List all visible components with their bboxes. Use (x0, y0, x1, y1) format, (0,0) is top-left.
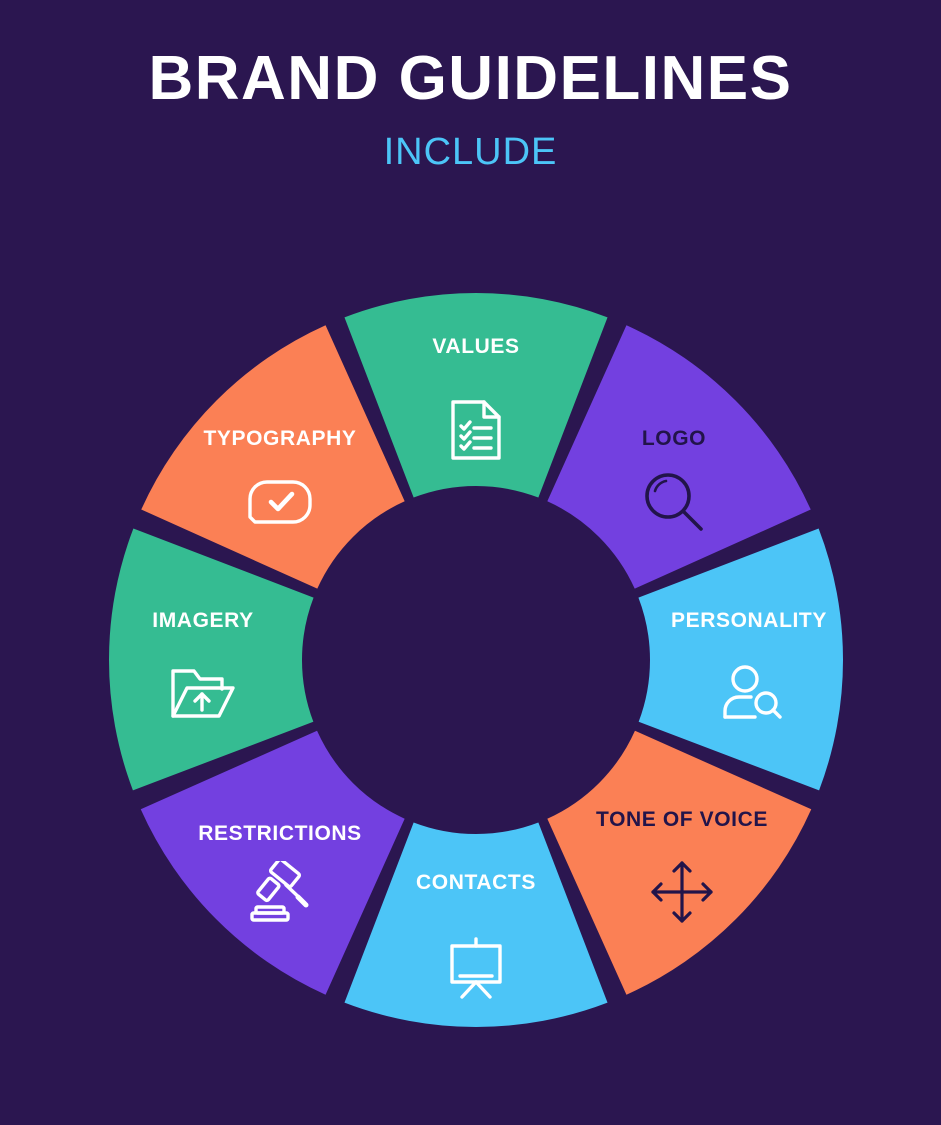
page-title: BRAND GUIDELINES (0, 46, 941, 111)
search-icon (643, 471, 705, 533)
presentation-board-icon (445, 937, 507, 999)
person-search-icon (722, 665, 782, 721)
segment-label-contacts[interactable]: CONTACTS (416, 871, 536, 895)
segment-label-imagery[interactable]: IMAGERY (152, 609, 253, 633)
segment-label-tone-of-voice[interactable]: TONE OF VOICE (596, 808, 768, 832)
chat-check-icon (247, 479, 313, 525)
checklist-document-icon (450, 399, 502, 461)
segment-label-values[interactable]: VALUES (432, 335, 519, 359)
segment-label-restrictions[interactable]: RESTRICTIONS (198, 822, 362, 846)
header: BRAND GUIDELINES INCLUDE (0, 46, 941, 173)
page-subtitle: INCLUDE (0, 133, 941, 173)
infographic-page: BRAND GUIDELINES INCLUDE VALUES LOGO PER… (0, 0, 941, 1125)
move-arrows-icon (649, 859, 715, 925)
gavel-icon (248, 861, 312, 923)
segment-label-typography[interactable]: TYPOGRAPHY (203, 427, 356, 451)
segment-label-logo[interactable]: LOGO (642, 427, 706, 451)
folder-upload-icon (170, 666, 236, 720)
segment-label-personality[interactable]: PERSONALITY (671, 609, 827, 633)
